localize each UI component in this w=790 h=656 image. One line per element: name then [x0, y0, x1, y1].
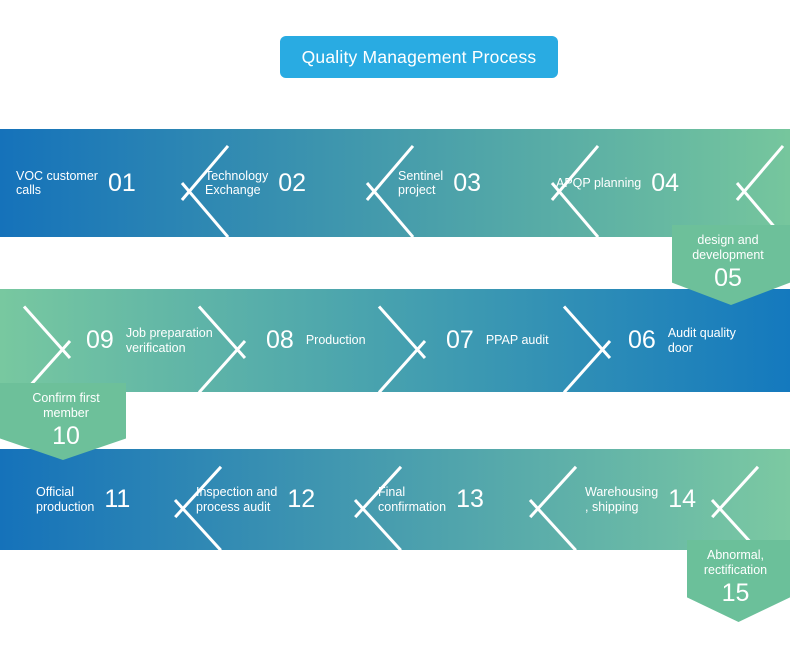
process-step-number: 04 — [651, 171, 679, 196]
process-step-label: Sentinel project — [398, 169, 443, 198]
process-step-number: 12 — [287, 487, 315, 512]
process-step-label: VOC customer calls — [16, 169, 98, 198]
process-step[interactable]: Technology Exchange02 — [205, 129, 337, 237]
process-step-label: Audit quality door — [668, 326, 736, 355]
process-step-number: 03 — [453, 171, 481, 196]
process-step[interactable]: APQP planning04 — [556, 129, 708, 237]
process-step-number: 14 — [668, 487, 696, 512]
connector-label: Confirm first member — [32, 391, 99, 420]
process-step[interactable]: Inspection and process audit12 — [196, 449, 342, 550]
process-step[interactable]: Sentinel project03 — [398, 129, 524, 237]
process-step-label: PPAP audit — [486, 333, 549, 348]
process-step-number: 11 — [104, 487, 130, 512]
process-step-label: Final confirmation — [378, 485, 446, 514]
process-step-label: Warehousing , shipping — [585, 485, 658, 514]
page-title: Quality Management Process — [280, 36, 558, 78]
process-step[interactable]: 08Production — [266, 289, 416, 392]
connector-number: 10 — [52, 424, 80, 449]
process-step-number: 02 — [278, 171, 306, 196]
process-step-number: 09 — [86, 328, 114, 353]
process-row-3: Official production11Inspection and proc… — [0, 449, 790, 550]
process-step[interactable]: 07PPAP audit — [446, 289, 596, 392]
connector-number: 05 — [714, 266, 742, 291]
process-step-label: APQP planning — [556, 176, 641, 191]
process-step[interactable]: Final confirmation13 — [378, 449, 518, 550]
process-step-label: Official production — [36, 485, 94, 514]
process-diagram: Quality Management Process VOC customer … — [0, 0, 790, 656]
process-step-label: Production — [306, 333, 366, 348]
connector-label: design and development — [692, 233, 764, 262]
process-step-number: 08 — [266, 328, 294, 353]
process-step-label: Inspection and process audit — [196, 485, 277, 514]
process-row-2: 09Job preparation verification08Producti… — [0, 289, 790, 392]
connector-15[interactable]: Abnormal, rectification15 — [687, 540, 790, 622]
process-step-number: 13 — [456, 487, 484, 512]
process-step[interactable]: VOC customer calls01 — [16, 129, 156, 237]
connector-label: Abnormal, rectification — [704, 548, 767, 577]
process-step-number: 01 — [108, 171, 136, 196]
process-step-number: 06 — [628, 328, 656, 353]
process-step-label: Technology Exchange — [205, 169, 268, 198]
process-step[interactable]: Official production11 — [36, 449, 162, 550]
process-step[interactable]: Warehousing , shipping14 — [548, 449, 696, 550]
process-step-label: Job preparation verification — [126, 326, 213, 355]
process-row-1: VOC customer calls01Technology Exchange0… — [0, 129, 790, 237]
process-step[interactable]: 09Job preparation verification — [86, 289, 236, 392]
process-step-number: 07 — [446, 328, 474, 353]
process-step[interactable]: 06Audit quality door — [628, 289, 780, 392]
connector-number: 15 — [722, 581, 750, 606]
page-title-text: Quality Management Process — [302, 47, 537, 68]
